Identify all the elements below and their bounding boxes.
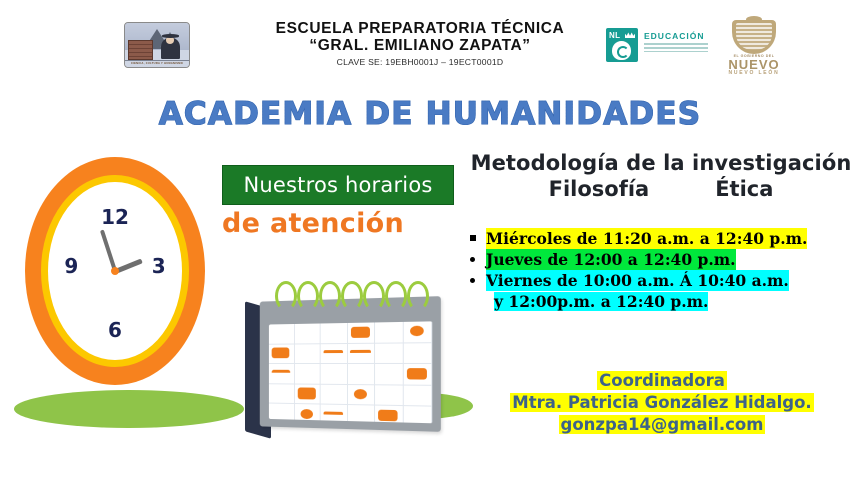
schedule-text-miercoles: Miércoles de 11:20 a.m. a 12:40 p.m. [486,228,807,249]
header: CIENCIA, CULTURA Y HUMANISMO ESCUELA PRE… [0,0,860,92]
calendar-cell [321,344,348,364]
calendar-illustration [245,281,455,446]
calendar-cell [294,344,320,363]
calendar-mark [323,350,343,354]
calendar-mark [378,410,398,422]
clock-number-6: 6 [108,318,122,342]
subject-filosofia: Filosofía [549,176,650,203]
school-name-line2: “GRAL. EMILIANO ZAPATA” [240,37,600,54]
school-logo-caption: CIENCIA, CULTURA Y HUMANISMO [125,61,189,67]
clock-illustration: 12 3 6 9 [25,157,205,385]
schedule-banner: Nuestros horarios [222,165,454,205]
calendar-mark [350,350,371,354]
schedule-text-viernes: Viernes de 10:00 a.m. Á 10:40 a.m. [486,270,789,291]
calendar-cell [294,323,320,343]
calendar-grid [269,321,432,423]
list-item: Jueves de 12:00 a 12:40 p.m. [468,249,860,270]
logo-portrait-hat [162,34,179,37]
nl-logo-emblem-icon [612,41,631,60]
shield-icon [732,20,776,54]
clock-number-9: 9 [64,254,78,278]
schedule-continuation-line: y 12:00p.m. a 12:40 p.m. [494,291,860,312]
coordinator-email-line: gonzpa14@gmail.com [468,414,856,436]
schedule-text-viernes-cont: y 12:00p.m. a 12:40 p.m. [494,292,708,311]
list-item: Viernes de 10:00 a.m. Á 10:40 a.m. [468,270,860,291]
calendar-spiral-binding [275,281,425,307]
calendar-cell [375,322,403,342]
clock-number-3: 3 [152,254,166,278]
calendar-mark [410,326,423,337]
grass-ellipse-decoration [14,390,244,428]
calendar-cell [294,404,320,423]
nl-logo-label: EDUCACIÓN [644,31,704,41]
calendar-cell [269,364,295,383]
subjects-block: Metodología de la investigación Filosofí… [468,150,854,203]
calendar-cell [375,385,403,405]
calendar-row [269,364,432,385]
calendar-mark [407,368,427,380]
calendar-cell [294,384,320,404]
calendar-mark [297,388,315,399]
list-item: Miércoles de 11:20 a.m. a 12:40 p.m. [468,228,860,249]
calendar-mark [301,409,313,419]
calendar-cell [269,344,295,363]
schedule-text-jueves: Jueves de 12:00 a 12:40 p.m. [486,249,736,270]
calendar-cell [269,324,295,343]
page-title-text: ACADEMIA DE HUMANIDADES [159,96,702,132]
flyer-slide: CIENCIA, CULTURA Y HUMANISMO ESCUELA PRE… [0,0,860,478]
calendar-mark [351,326,370,338]
calendar-cell [347,405,375,423]
schedule-banner-subtitle: de atención [222,208,462,239]
school-name-line1: ESCUELA PREPARATORIA TÉCNICA [240,20,600,37]
calendar-cell [403,406,432,423]
calendar-row [269,343,432,364]
calendar-cell [294,364,320,383]
calendar-cell [269,404,295,423]
nl-logo-subtext-lines [644,43,708,52]
calendar-cell [347,385,375,405]
calendar-mark [323,411,343,416]
square-bullet-icon [470,235,476,241]
clock-center-pivot [111,267,119,275]
schedule-list: Miércoles de 11:20 a.m. a 12:40 p.m. Jue… [468,228,860,312]
calendar-cell [321,364,348,384]
header-text-block: ESCUELA PREPARATORIA TÉCNICA “GRAL. EMIL… [240,20,600,67]
coordinator-name-line: Mtra. Patricia González Hidalgo. [468,392,856,414]
calendar-cell [347,343,375,363]
coordinator-role-line: Coordinadora [468,370,856,392]
calendar-cell [375,364,403,384]
calendar-cell [321,405,348,423]
nl-educacion-logo: NL EDUCACIÓN [606,26,710,64]
calendar-cell [403,364,432,384]
coordinator-block: Coordinadora Mtra. Patricia González Hid… [468,370,856,436]
nl-logo-box: NL [606,28,638,62]
coordinator-role: Coordinadora [597,371,727,390]
calendar-row [269,404,432,423]
coordinator-name: Mtra. Patricia González Hidalgo. [510,393,813,412]
school-clave: CLAVE SE: 19EBH0001J – 19ECT0001D [240,57,600,67]
calendar-mark [272,348,290,359]
calendar-cell [403,385,432,406]
calendar-cell [347,322,375,342]
clock-number-12: 12 [101,205,129,229]
gov-logo-state: NUEVO LEÓN [718,70,790,76]
dot-bullet-icon [470,257,475,262]
calendar-row [269,321,432,344]
dot-bullet-icon [470,278,475,283]
calendar-body [260,296,441,432]
nl-logo-mark: NL [609,31,620,40]
clock-minute-hand [100,230,117,272]
calendar-cell [321,385,348,405]
schedule-banner-label: Nuestros horarios [243,173,432,197]
calendar-cell [321,323,348,343]
calendar-cell [375,343,403,363]
subject-metodologia: Metodología de la investigación [468,150,854,176]
calendar-cell [347,364,375,384]
calendar-mark [354,389,367,399]
subjects-row: Filosofía Ética [468,176,854,203]
clock-face: 12 3 6 9 [48,182,181,360]
calendar-cell [403,321,432,342]
coordinator-email[interactable]: gonzpa14@gmail.com [559,415,766,434]
subject-etica: Ética [715,176,773,203]
nuevo-leon-gov-logo: EL GOBIERNO DEL NUEVO NUEVO LEÓN [718,20,790,76]
page-title: ACADEMIA DE HUMANIDADES [0,96,860,132]
calendar-cell [375,406,403,423]
calendar-cell [403,343,432,363]
logo-building-icon [128,40,153,60]
crown-icon [625,32,635,38]
calendar-mark [271,370,290,374]
school-logo: CIENCIA, CULTURA Y HUMANISMO [124,22,190,68]
calendar-cell [269,384,295,403]
